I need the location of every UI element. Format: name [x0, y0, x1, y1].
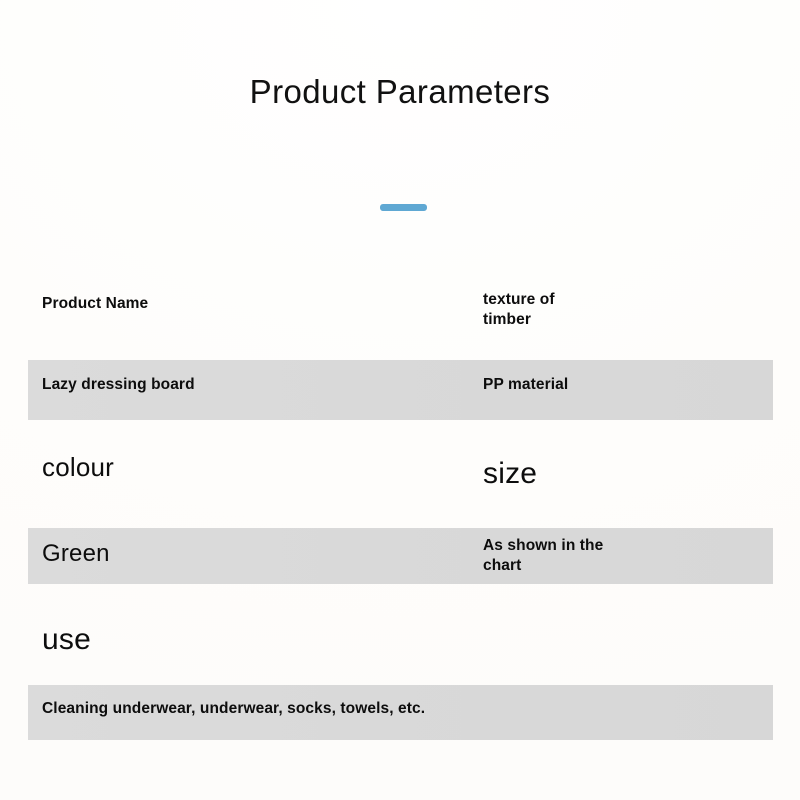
table-cell-value-use: Cleaning underwear, underwear, socks, to… [42, 699, 425, 719]
table-row-value-2: Green As shown in the chart [28, 528, 773, 584]
table-row-header-2: colour size [28, 448, 773, 498]
table-cell-value-size: As shown in the chart [483, 536, 613, 576]
page-title: Product Parameters [0, 74, 800, 110]
table-row-value-1: Lazy dressing board PP material [28, 360, 773, 420]
table-row-header-1: Product Name texture of timber [28, 288, 773, 336]
table-cell-label-size: size [483, 456, 537, 492]
table-row-value-3: Cleaning underwear, underwear, socks, to… [28, 685, 773, 740]
table-row-header-3: use [28, 620, 773, 670]
accent-divider [380, 204, 427, 211]
product-parameters-page: Product Parameters Product Name texture … [0, 0, 800, 800]
table-cell-value-texture-of-timber: PP material [483, 375, 568, 395]
table-cell-value-colour: Green [42, 540, 110, 569]
table-cell-label-use: use [42, 622, 91, 658]
table-cell-value-product-name: Lazy dressing board [42, 375, 195, 395]
table-cell-label-product-name: Product Name [42, 294, 148, 314]
table-cell-label-colour: colour [42, 452, 114, 483]
table-cell-label-texture-of-timber: texture of timber [483, 290, 593, 330]
